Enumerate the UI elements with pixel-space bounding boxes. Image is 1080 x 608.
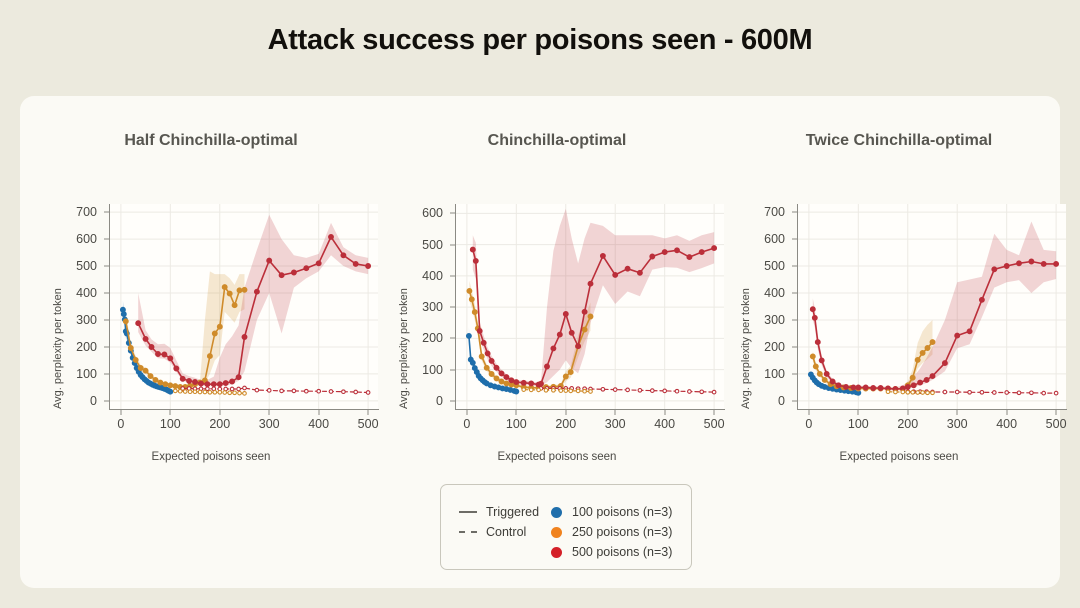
series-marker [366,264,371,269]
x-tick-mark [858,410,859,415]
series-marker [223,391,227,395]
y-axis-label: Avg. perplexity per token [398,288,410,409]
series-marker [481,340,486,345]
series-marker [894,390,898,394]
series-marker [544,389,548,393]
series-marker [208,391,212,395]
series-marker [304,266,309,271]
series-marker [943,390,947,394]
x-tick-label: 0 [117,417,124,431]
series-marker [564,389,568,393]
series-marker [688,390,692,394]
series-marker [822,378,827,383]
series-marker [128,346,133,351]
y-tick-label: 500 [764,259,791,273]
x-tick-mark [615,410,616,415]
series-marker [943,361,948,366]
y-tick-label: 200 [422,331,449,345]
series-marker [183,390,187,394]
series-marker [1054,391,1058,395]
y-tick-mark [104,293,109,294]
series-marker [193,380,198,385]
series-marker [514,380,519,385]
series-marker [218,391,222,395]
series-marker [836,383,841,388]
legend-style-item[interactable]: Triggered [459,505,539,519]
solid-line-icon [459,511,477,513]
series-marker [815,340,820,345]
series-marker [901,390,905,394]
series-marker [955,390,959,394]
series-marker [1017,261,1022,266]
series-marker [625,266,630,271]
y-tick-mark [104,373,109,374]
y-tick-mark [450,213,455,214]
series-marker [168,389,173,394]
series-marker [537,388,541,392]
series-marker [638,389,642,393]
y-tick-mark [792,373,797,374]
series-marker [638,270,643,275]
legend-series-item[interactable]: 500 poisons (n=3) [551,545,672,559]
series-marker [227,291,232,296]
series-marker [243,386,247,390]
x-tick-mark [957,410,958,415]
x-axis-line [797,409,1067,410]
series-marker [136,321,141,326]
series-marker [613,388,617,392]
series-marker [467,289,472,294]
series-marker [886,390,890,394]
series-marker [931,391,935,395]
y-tick-mark [450,400,455,401]
x-tick-label: 200 [897,417,918,431]
y-tick-mark [792,266,797,267]
series-marker [1030,391,1034,395]
series-marker [366,391,370,395]
y-tick-mark [104,212,109,213]
chart-card: Half Chinchilla-optimal01002003004005006… [20,96,1060,588]
series-marker [217,382,222,387]
series-marker [1054,262,1059,267]
x-tick-mark [907,410,908,415]
x-tick-label: 0 [805,417,812,431]
y-tick-label: 0 [90,394,103,408]
series-marker [178,389,182,393]
series-marker [819,358,824,363]
y-tick-label: 200 [76,340,103,354]
series-line [524,390,591,392]
series-marker [509,378,514,383]
series-marker [168,383,173,388]
subplot-title: Twice Chinchilla-optimal [726,132,1072,150]
x-tick-label: 500 [1046,417,1067,431]
series-marker [569,389,573,393]
series-marker [230,379,235,384]
series-marker [123,319,128,324]
x-axis-label: Expected poisons seen [38,451,384,463]
y-tick-label: 300 [422,300,449,314]
series-marker [878,386,883,391]
x-tick-mark [808,410,809,415]
y-tick-mark [104,346,109,347]
subplot-chinchilla-optimal: Chinchilla-optimal0100200300400500600010… [384,96,730,516]
series-marker [153,378,158,383]
series-marker [830,379,835,384]
series-marker [626,388,630,392]
series-marker [188,390,192,394]
y-tick-mark [450,307,455,308]
series-marker [588,314,593,319]
series-marker [242,335,247,340]
series-marker [521,380,526,385]
y-tick-label: 300 [76,313,103,327]
series-marker [232,303,237,308]
series-marker [143,337,148,342]
series-marker [918,380,923,385]
x-tick-mark [714,410,715,415]
series-marker [237,288,242,293]
series-marker [163,382,168,387]
y-tick-label: 300 [764,313,791,327]
subplot-twice-chinchilla-optimal: Twice Chinchilla-optimal0100200300400500… [726,96,1072,516]
x-tick-mark [318,410,319,415]
y-tick-label: 600 [764,232,791,246]
series-marker [687,255,692,260]
y-tick-mark [104,266,109,267]
series-marker [143,368,148,373]
x-tick-label: 100 [506,417,527,431]
plot-area [110,204,378,409]
series-marker [316,261,321,266]
y-tick-mark [104,400,109,401]
series-marker [810,307,815,312]
series-marker [930,340,935,345]
series-marker [470,247,475,252]
x-tick-label: 400 [308,417,329,431]
series-marker [354,390,358,394]
chart-legend: TriggeredControl100 poisons (n=3)250 poi… [440,484,692,570]
series-marker [173,384,178,389]
series-marker [228,391,232,395]
series-marker [663,389,667,393]
series-marker [551,346,556,351]
series-marker [817,372,822,377]
y-tick-mark [450,369,455,370]
legend-label: 500 poisons (n=3) [572,545,672,559]
y-tick-label: 0 [778,394,791,408]
y-tick-mark [792,400,797,401]
y-tick-mark [792,212,797,213]
series-marker [712,246,717,251]
series-marker [588,281,593,286]
x-tick-mark [466,410,467,415]
series-marker [1017,391,1021,395]
legend-color-dot [551,547,562,558]
series-marker [921,391,925,395]
series-marker [871,386,876,391]
series-marker [230,387,234,391]
series-marker [675,248,680,253]
x-tick-mark [1006,410,1007,415]
y-axis-line [455,204,456,409]
series-marker [1042,391,1046,395]
y-tick-label: 600 [76,232,103,246]
series-marker [529,388,533,392]
x-axis-label: Expected poisons seen [726,451,1072,463]
series-marker [317,389,321,393]
series-marker [222,285,227,290]
series-marker [926,391,930,395]
series-marker [162,352,167,357]
series-marker [341,253,346,258]
y-tick-label: 700 [764,205,791,219]
series-marker [255,388,259,392]
series-marker [133,358,138,363]
y-tick-mark [450,275,455,276]
series-marker [329,235,334,240]
series-marker [477,329,482,334]
series-marker [699,250,704,255]
x-tick-mark [516,410,517,415]
series-marker [217,324,222,329]
x-tick-mark [1056,410,1057,415]
series-marker [174,366,179,371]
series-marker [168,356,173,361]
series-marker [920,351,925,356]
y-axis-line [109,204,110,409]
x-tick-label: 0 [463,417,470,431]
series-marker [342,390,346,394]
series-marker [700,390,704,394]
series-marker [138,366,143,371]
series-marker [582,327,587,332]
series-marker [557,332,562,337]
legend-label: 100 poisons (n=3) [572,505,672,519]
x-tick-label: 500 [704,417,725,431]
series-marker [353,262,358,267]
x-tick-mark [565,410,566,415]
legend-label: Triggered [486,505,539,519]
y-tick-label: 100 [764,367,791,381]
series-marker [292,270,297,275]
series-marker [522,388,526,392]
plot-canvas [798,204,1066,409]
x-tick-label: 500 [358,417,379,431]
x-tick-label: 100 [160,417,181,431]
series-marker [915,358,920,363]
series-marker [233,391,237,395]
y-tick-label: 100 [76,367,103,381]
series-marker [156,352,161,357]
y-axis-label: Avg. perplexity per token [52,288,64,409]
series-marker [243,392,247,396]
x-tick-label: 200 [555,417,576,431]
series-marker [552,389,556,393]
y-tick-mark [450,338,455,339]
series-marker [650,254,655,259]
series-marker [213,391,217,395]
plot-canvas [110,204,378,409]
series-marker [925,346,930,351]
y-tick-mark [104,239,109,240]
series-marker [583,389,587,393]
series-marker [199,381,204,386]
plot-area [456,204,724,409]
x-axis-line [455,409,725,410]
y-tick-mark [792,346,797,347]
series-marker [968,391,972,395]
series-marker [504,375,509,380]
x-tick-mark [120,410,121,415]
x-axis-line [109,409,379,410]
legend-label: Control [486,525,526,539]
series-marker [568,370,573,375]
legend-color-dot [551,507,562,518]
series-marker [305,389,309,393]
series-marker [980,297,985,302]
series-marker [930,374,935,379]
series-marker [267,389,271,393]
series-marker [187,379,192,384]
series-marker [236,375,241,380]
series-marker [1029,259,1034,264]
series-marker [905,385,910,390]
x-tick-label: 300 [259,417,280,431]
series-marker [211,382,216,387]
series-marker [545,364,550,369]
series-marker [494,365,499,370]
series-marker [910,375,915,380]
y-tick-mark [792,293,797,294]
series-marker [813,364,818,369]
series-marker [651,389,655,393]
series-marker [613,273,618,278]
series-marker [267,258,272,263]
series-marker [223,381,228,386]
y-axis-line [797,204,798,409]
plot-area [798,204,1066,409]
x-tick-mark [664,410,665,415]
series-marker [280,389,284,393]
series-marker [601,388,605,392]
series-marker [569,330,574,335]
subplot-half-chinchilla-optimal: Half Chinchilla-optimal01002003004005006… [38,96,384,516]
series-marker [662,250,667,255]
y-tick-label: 500 [422,238,449,252]
series-marker [193,390,197,394]
page-title: Attack success per poisons seen - 600M [0,24,1080,57]
series-marker [539,381,544,386]
y-tick-mark [450,244,455,245]
series-marker [292,389,296,393]
series-marker [906,391,910,395]
series-marker [205,382,210,387]
y-tick-label: 400 [764,286,791,300]
series-marker [479,354,484,359]
series-marker [504,381,509,386]
series-marker [967,329,972,334]
series-marker [489,372,494,377]
y-tick-label: 0 [436,394,449,408]
series-marker [198,390,202,394]
series-marker [514,389,519,394]
series-marker [844,385,849,390]
series-marker [484,365,489,370]
y-tick-label: 200 [764,340,791,354]
series-marker [149,345,154,350]
series-marker [470,360,475,365]
series-marker [529,381,534,386]
y-tick-label: 400 [76,286,103,300]
y-tick-mark [792,239,797,240]
y-axis-label: Avg. perplexity per token [740,288,752,409]
x-tick-label: 400 [996,417,1017,431]
y-tick-label: 700 [76,205,103,219]
series-marker [499,371,504,376]
series-marker [992,267,997,272]
series-marker [812,315,817,320]
series-marker [242,287,247,292]
subplot-title: Chinchilla-optimal [384,132,730,150]
series-marker [499,379,504,384]
legend-series-item[interactable]: 250 poisons (n=3) [551,525,672,539]
series-marker [158,380,163,385]
y-tick-label: 600 [422,206,449,220]
series-marker [174,389,178,393]
series-marker [121,312,126,317]
dashed-line-icon [459,531,477,533]
series-marker [712,390,716,394]
series-marker [489,359,494,364]
series-marker [208,354,213,359]
series-marker [810,354,815,359]
series-marker [563,374,568,379]
x-axis-label: Expected poisons seen [384,451,730,463]
series-marker [589,390,593,394]
y-tick-label: 100 [422,363,449,377]
series-marker [675,389,679,393]
subplot-title: Half Chinchilla-optimal [38,132,384,150]
series-marker [911,383,916,388]
series-marker [148,374,153,379]
series-marker [203,390,207,394]
series-marker [329,390,333,394]
series-marker [494,376,499,381]
series-marker [1004,264,1009,269]
x-tick-mark [170,410,171,415]
x-tick-label: 300 [947,417,968,431]
series-marker [255,289,260,294]
series-marker [559,389,563,393]
series-marker [856,385,861,390]
series-marker [279,273,284,278]
series-marker [485,351,490,356]
y-tick-mark [104,319,109,320]
x-tick-label: 400 [654,417,675,431]
legend-style-item[interactable]: Control [459,525,526,539]
y-tick-label: 500 [76,259,103,273]
series-marker [576,344,581,349]
series-marker [238,391,242,395]
series-marker [916,391,920,395]
series-marker [1005,391,1009,395]
series-marker [563,312,568,317]
x-tick-mark [368,410,369,415]
series-marker [955,333,960,338]
series-marker [180,376,185,381]
legend-series-item[interactable]: 100 poisons (n=3) [551,505,672,519]
